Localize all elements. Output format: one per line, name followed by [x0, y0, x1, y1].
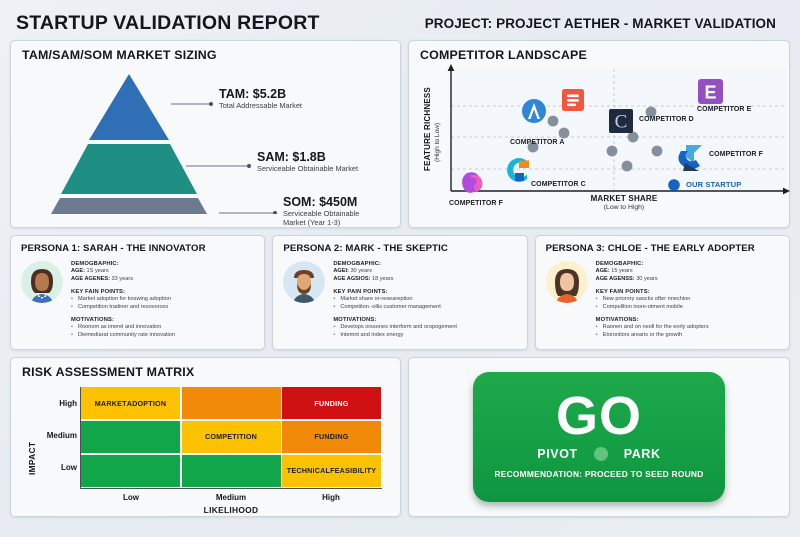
- scatter-dot: [652, 146, 663, 157]
- report-page: STARTUP VALIDATION REPORT PROJECT: PROJE…: [0, 0, 800, 537]
- persona-1-motiv-list: Roonom as imerel and innovation Diemedia…: [71, 324, 256, 340]
- scatter-label-competitor-f-right: COMPETITOR F: [709, 151, 763, 158]
- risk-grid: MARKETADOPTION FUNDING COMPETITION FUNDI…: [81, 387, 381, 487]
- list-item: Intemnt and index energy: [333, 332, 518, 340]
- persona-2-motiv-head: MOTIVATIONS:: [333, 316, 518, 324]
- scatter-dot: [628, 132, 639, 143]
- risk-cell[interactable]: [182, 455, 281, 487]
- y-axis-title: FEATURE RICHNESS: [423, 87, 432, 171]
- persona-1-pain-head: KEY FAIN POINTS:: [71, 288, 256, 296]
- risk-cell[interactable]: FUNDING: [282, 421, 381, 453]
- decision-label: GO: [556, 391, 642, 442]
- som-sub2: Market (Year 1-3): [283, 218, 359, 227]
- list-item: Raonen and on neoll for the eorly adopte…: [596, 324, 781, 332]
- pyramid-label-sam: SAM: $1.8B Serviceable Obtainable Market: [257, 150, 358, 173]
- risk-cell-line: FEASIBILITY: [330, 466, 376, 475]
- competitor-landscape-title: COMPETITOR LANDSCAPE: [409, 41, 789, 62]
- persona-row: PERSONA 1: SARAH - THE INNOVATOR DEMOGBA…: [10, 235, 790, 350]
- competitor-b-logo-icon: [562, 89, 584, 111]
- persona-3-motiv-list: Raonen and on neoll for the eorly adopte…: [596, 324, 781, 340]
- persona-1-title: PERSONA 1: SARAH - THE INNOVATOR: [11, 236, 264, 254]
- risk-cell[interactable]: [81, 421, 180, 453]
- svg-text:C: C: [615, 112, 628, 133]
- risk-cell[interactable]: FUNDING: [282, 387, 381, 419]
- top-row: TAM/SAM/SOM MARKET SIZING TAM: $5.2B Tot…: [10, 40, 790, 228]
- pyramid-label-tam: TAM: $5.2B Total Addressable Market: [219, 87, 302, 110]
- persona-2-avatar: [283, 261, 325, 303]
- persona-2-title: PERSONA 2: MARK - THE SKEPTIC: [273, 236, 526, 254]
- scatter-dot-our-startup: [668, 179, 680, 191]
- som-sub: Serviceable Obtainable: [283, 209, 359, 218]
- risk-y-label-low: Low: [37, 463, 77, 472]
- risk-cell[interactable]: [81, 455, 180, 487]
- competitor-a-logo-icon: [522, 99, 546, 123]
- risk-cell[interactable]: MARKETADOPTION: [81, 387, 180, 419]
- page-title: STARTUP VALIDATION REPORT: [16, 12, 320, 35]
- list-item: Etoronilors arearis or the growth: [596, 332, 781, 340]
- persona-1-kv-0: AGE: 1S years: [71, 268, 256, 276]
- list-item: Market adoption for knswing adoption: [71, 296, 256, 304]
- competitor-scatter: C E COMPETITOR A COMPETI: [409, 61, 800, 216]
- y-axis-subtitle: (High to Low): [434, 123, 441, 162]
- risk-cell-line: COMPETITION: [205, 432, 257, 441]
- risk-cell-line: ADOPTION: [127, 399, 167, 408]
- tam-value: TAM: $5.2B: [219, 87, 302, 101]
- persona-2-pain-list: Market share or-researeption Competiton …: [333, 296, 518, 312]
- leader-dot-som: [273, 211, 277, 214]
- option-park[interactable]: PARK: [624, 447, 661, 461]
- persona-1-motiv-head: MOTIVATIONS:: [71, 316, 256, 324]
- persona-2-demographic-head: DEMOGBAPHIC:: [333, 260, 518, 268]
- leader-dot-tam: [209, 102, 213, 106]
- risk-axis-y-line: [80, 387, 81, 489]
- market-sizing-title: TAM/SAM/SOM MARKET SIZING: [11, 41, 400, 62]
- pyramid-chart: TAM: $5.2B Total Addressable Market SAM:…: [11, 62, 400, 220]
- risk-matrix-panel: RISK ASSESSMENT MATRIX IMPACT High Mediu…: [10, 357, 401, 517]
- risk-y-label-medium: Medium: [27, 431, 77, 440]
- x-axis-arrow: [783, 188, 790, 195]
- decision-options: PIVOT PARK: [537, 447, 660, 461]
- risk-axis-x-line: [80, 488, 382, 489]
- persona-3-title: PERSONA 3: CHLOE - THE EARLY ADOPTER: [536, 236, 789, 254]
- risk-y-label-high: High: [37, 399, 77, 408]
- sam-value: SAM: $1.8B: [257, 150, 358, 164]
- list-item: Competition tradiner and resovorces: [71, 304, 256, 312]
- risk-cell[interactable]: COMPETITION: [182, 421, 281, 453]
- persona-card-2[interactable]: PERSONA 2: MARK - THE SKEPTIC DEMOGBAPHI…: [272, 235, 527, 350]
- option-pivot[interactable]: PIVOT: [537, 447, 578, 461]
- leader-dot-sam: [247, 164, 251, 168]
- scatter-dot: [548, 116, 559, 127]
- risk-x-label-high: High: [281, 493, 381, 502]
- persona-3-kv-0: AGE: 15 years: [596, 268, 781, 276]
- pyramid-tier-som: [25, 198, 233, 214]
- recommendation-panel: GO PIVOT PARK RECOMMENDATION: PROCEED TO…: [408, 357, 790, 517]
- persona-3-info: DEMOGBAPHIC: AGE: 15 years AGE AGENSS: 3…: [596, 259, 781, 340]
- persona-card-1[interactable]: PERSONA 1: SARAH - THE INNOVATOR DEMOGBA…: [10, 235, 265, 350]
- scatter-dot: [607, 146, 618, 157]
- scatter-label-competitor-e: COMPETITOR E: [697, 106, 751, 113]
- pyramid-tier-sam: [61, 144, 197, 194]
- pyramid-label-som: SOM: $450M Serviceable Obtainable Market…: [283, 195, 359, 228]
- scatter-label-competitor-d: COMPETITOR D: [639, 116, 694, 123]
- x-axis-title: MARKET SHARE: [549, 194, 699, 203]
- recommendation-text: RECOMMENDATION: PROCEED TO SEED ROUND: [494, 469, 703, 479]
- risk-x-axis-title: LIKELIHOOD: [81, 505, 381, 515]
- risk-x-label-low: Low: [81, 493, 181, 502]
- scatter-label-competitor-f-left: COMPETITOR F: [449, 200, 503, 207]
- persona-2-kv-1: AGE AGSIOS: 18 years: [333, 276, 518, 284]
- persona-card-3[interactable]: PERSONA 3: CHLOE - THE EARLY ADOPTER DEM…: [535, 235, 790, 350]
- competitor-landscape-panel: COMPETITOR LANDSCAPE: [408, 40, 790, 228]
- risk-matrix-chart: IMPACT High Medium Low MARKETADOPTION FU…: [11, 379, 400, 507]
- status-dot-icon: [594, 447, 608, 461]
- persona-2-pain-head: KEY PAIN POINTS:: [333, 288, 518, 296]
- market-sizing-panel: TAM/SAM/SOM MARKET SIZING TAM: $5.2B Tot…: [10, 40, 401, 228]
- list-item: Competiton -ollis customer management: [333, 304, 518, 312]
- sam-sub: Serviceable Obtainable Market: [257, 164, 358, 173]
- risk-cell-line: FUNDING: [314, 399, 348, 408]
- som-value: SOM: $450M: [283, 195, 359, 209]
- persona-2-kv-0: AGEI: 30 years: [333, 268, 518, 276]
- scatter-label-our-startup: OUR STARTUP: [686, 180, 741, 189]
- x-axis-subtitle: (Low to High): [549, 204, 699, 211]
- persona-3-demographic-head: DEMOGBAPHIC:: [596, 260, 781, 268]
- y-axis-arrow: [448, 64, 455, 71]
- go-decision-card[interactable]: GO PIVOT PARK RECOMMENDATION: PROCEED TO…: [473, 372, 725, 502]
- risk-matrix-title: RISK ASSESSMENT MATRIX: [11, 358, 400, 379]
- persona-3-avatar: [546, 261, 588, 303]
- tam-sub: Total Addressable Market: [219, 101, 302, 110]
- risk-x-label-medium: Medium: [181, 493, 281, 502]
- risk-cell[interactable]: [182, 387, 281, 419]
- persona-1-avatar: [21, 261, 63, 303]
- risk-cell-line: MARKET: [95, 399, 127, 408]
- persona-1-pain-list: Market adoption for knswing adoption Com…: [71, 296, 256, 312]
- scatter-label-competitor-c: COMPETITOR C: [531, 181, 586, 188]
- scatter-dot: [559, 128, 570, 139]
- persona-3-kv-1: AGE AGENSS: 30 years: [596, 276, 781, 284]
- list-item: Roonom as imerel and innovation: [71, 324, 256, 332]
- risk-cell[interactable]: TECHNICALFEASIBILITY: [282, 455, 381, 487]
- list-item: Compelilion inore-otment mobile: [596, 304, 781, 312]
- risk-y-axis-title: IMPACT: [27, 442, 37, 475]
- scatter-label-competitor-a: COMPETITOR A: [510, 139, 564, 146]
- persona-2-info: DEMOGBAPHIC: AGEI: 30 years AGE AGSIOS: …: [333, 259, 518, 340]
- bottom-row: RISK ASSESSMENT MATRIX IMPACT High Mediu…: [10, 357, 790, 517]
- risk-cell-line: FUNDING: [314, 432, 348, 441]
- report-header: STARTUP VALIDATION REPORT PROJECT: PROJE…: [10, 8, 790, 38]
- risk-cell-line: TECHNICAL: [287, 466, 330, 475]
- competitor-e-logo-icon: E: [698, 79, 723, 104]
- persona-2-motiv-list: Develops orssones interform and oropogem…: [333, 324, 518, 340]
- competitor-d-logo-icon: C: [609, 109, 633, 133]
- persona-1-kv-1: AGE AGENES: 33 years: [71, 276, 256, 284]
- list-item: Market share or-researeption: [333, 296, 518, 304]
- list-item: New priorory saocks ofter nnechion: [596, 296, 781, 304]
- svg-text:E: E: [704, 83, 716, 103]
- list-item: Diemediarat community rate innovation: [71, 332, 256, 340]
- pyramid-svg: [11, 62, 402, 214]
- persona-1-info: DEMOGBAPHIC: AGE: 1S years AGE AGENES: 3…: [71, 259, 256, 340]
- persona-3-pain-list: New priorory saocks ofter nnechion Compe…: [596, 296, 781, 312]
- persona-3-pain-head: KEY FAIN POINTS:: [596, 288, 781, 296]
- pyramid-tier-tam: [89, 74, 169, 140]
- project-title: PROJECT: PROJECT AETHER - MARKET VALIDAT…: [425, 16, 784, 31]
- persona-1-demographic-head: DEMOGBAPHIC:: [71, 260, 256, 268]
- scatter-dot: [622, 161, 633, 172]
- list-item: Develops orssones interform and oropogem…: [333, 324, 518, 332]
- persona-3-motiv-head: MOTIVATIONS:: [596, 316, 781, 324]
